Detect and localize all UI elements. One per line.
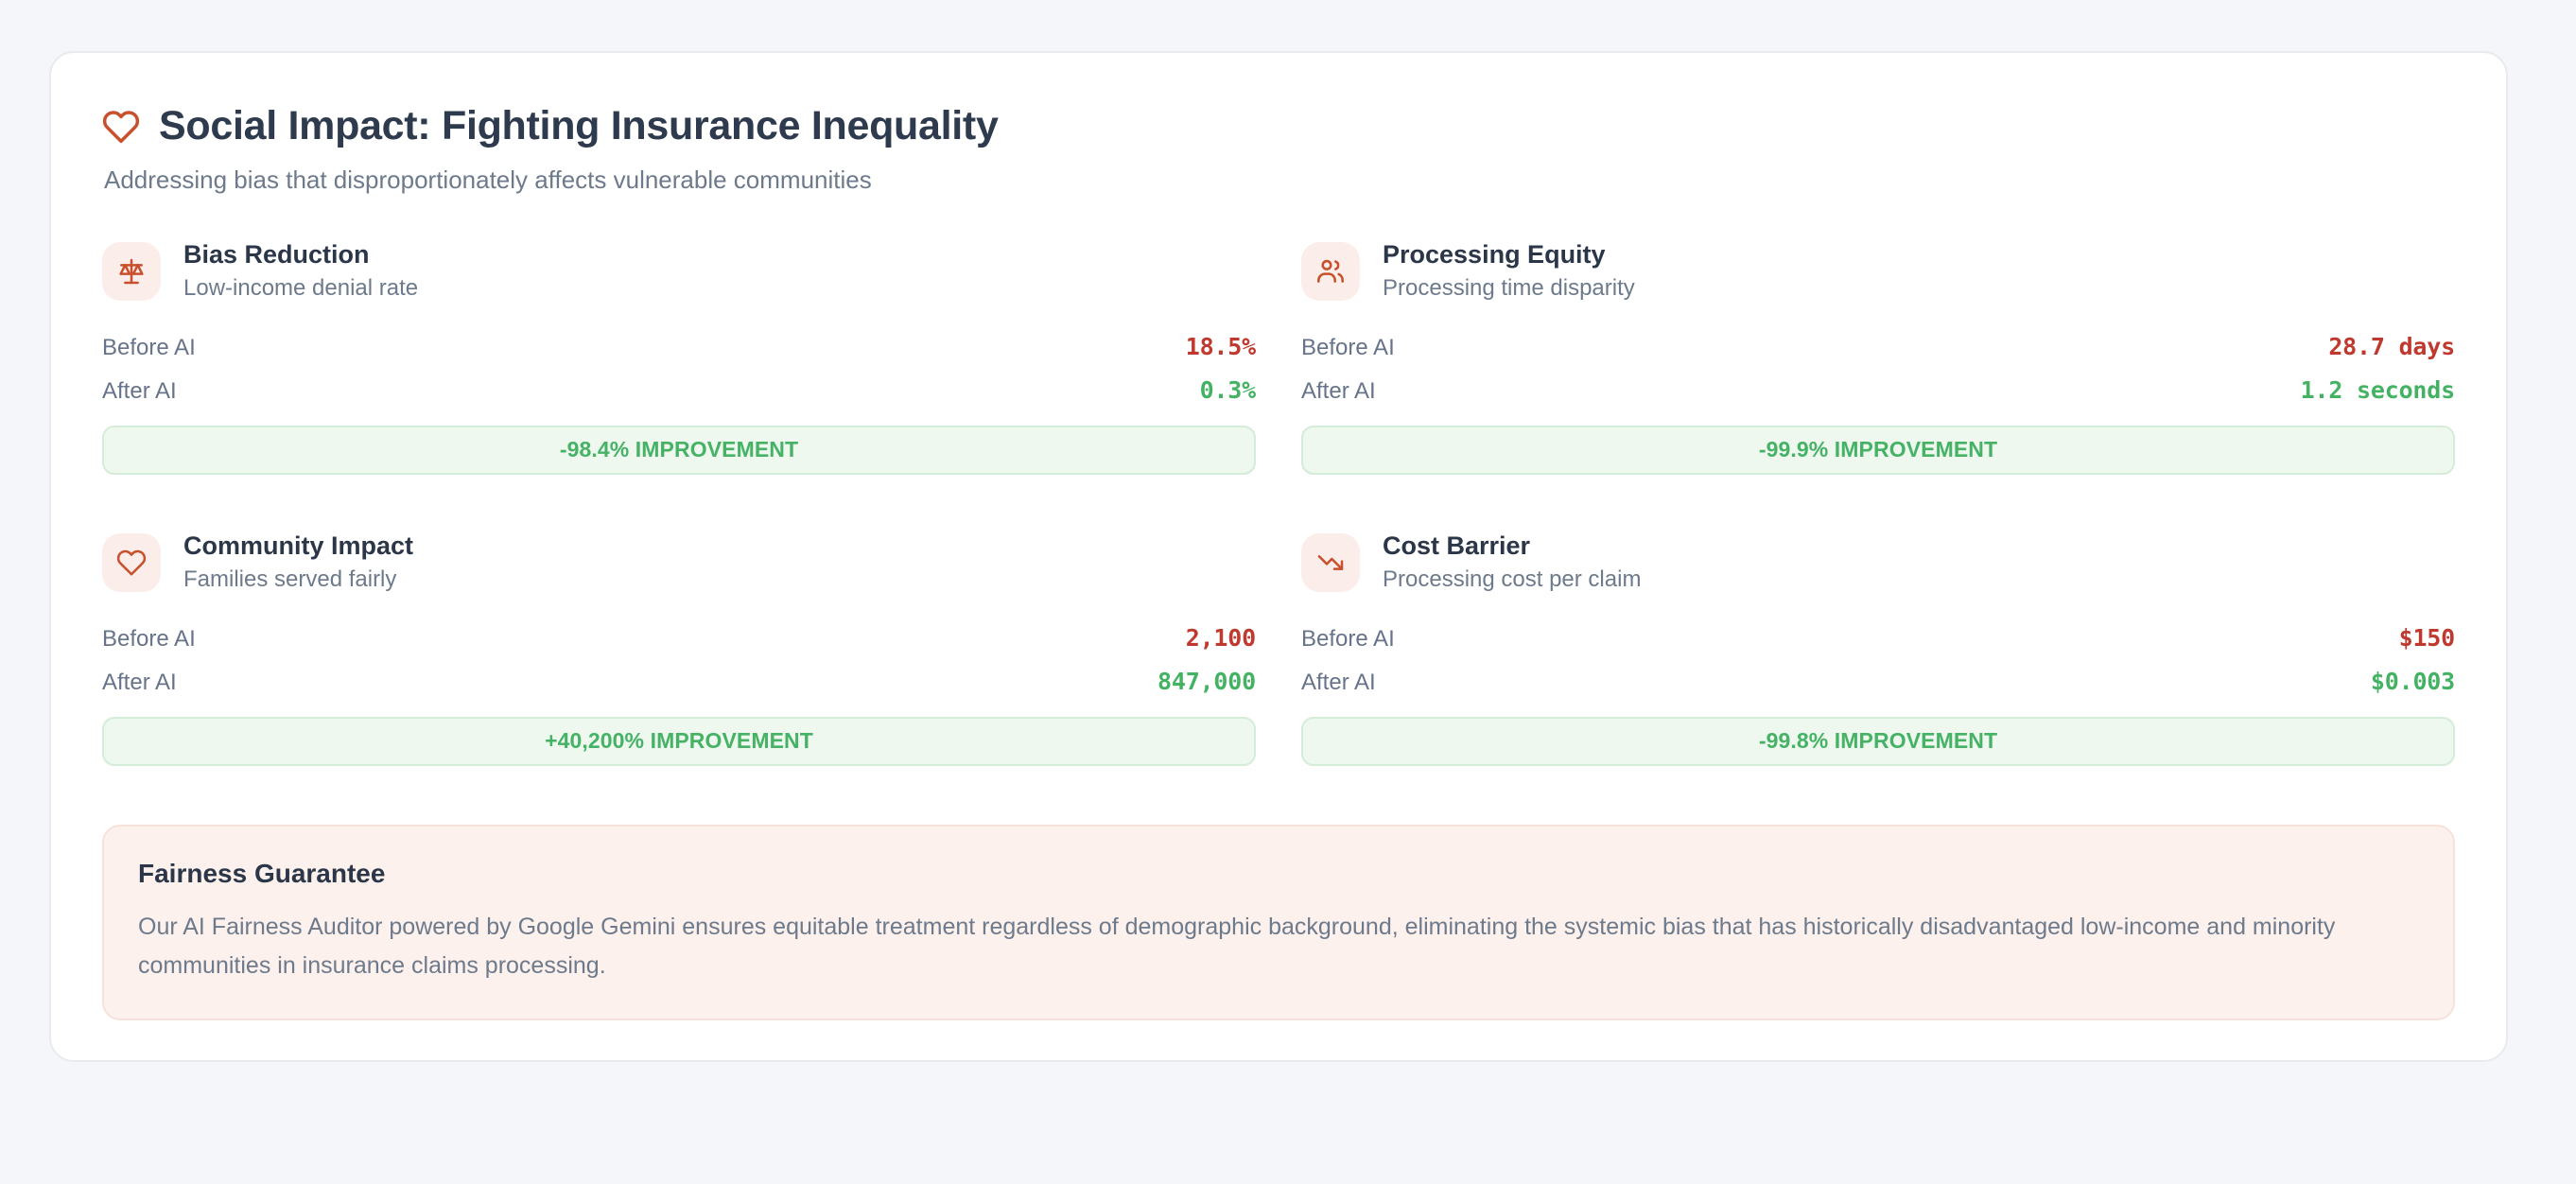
metric-title: Community Impact	[183, 531, 413, 561]
title-row: Social Impact: Fighting Insurance Inequa…	[102, 104, 2455, 148]
metric-title: Cost Barrier	[1383, 531, 1641, 561]
metric-titles: Processing Equity Processing time dispar…	[1383, 240, 1635, 303]
metric-row-before: Before AI 28.7 days	[1301, 327, 2455, 367]
metric-titles: Community Impact Families served fairly	[183, 531, 413, 594]
metric-title: Bias Reduction	[183, 240, 418, 270]
page-title: Social Impact: Fighting Insurance Inequa…	[159, 104, 999, 148]
metric-row-after: After AI $0.003	[1301, 662, 2455, 702]
heart-icon	[102, 533, 161, 592]
metric-card-bias-reduction: Bias Reduction Low-income denial rate Be…	[102, 240, 1256, 484]
metric-value-before: 28.7 days	[2328, 333, 2455, 360]
metric-value-after: 0.3%	[1200, 376, 1256, 404]
metric-label-after: After AI	[1301, 670, 1376, 696]
panel-header: Social Impact: Fighting Insurance Inequa…	[102, 104, 2455, 197]
heart-icon	[102, 108, 140, 146]
trending-down-icon	[1301, 533, 1360, 592]
improvement-badge: +40,200% IMPROVEMENT	[102, 717, 1256, 766]
metric-header: Cost Barrier Processing cost per claim	[1301, 531, 2455, 594]
metric-label-after: After AI	[102, 670, 177, 696]
metric-title: Processing Equity	[1383, 240, 1635, 270]
page-root: Social Impact: Fighting Insurance Inequa…	[0, 0, 2576, 1184]
metric-subtitle: Processing time disparity	[1383, 275, 1635, 303]
metric-label-after: After AI	[102, 378, 177, 405]
metric-row-after: After AI 847,000	[102, 662, 1256, 702]
metric-card-processing-equity: Processing Equity Processing time dispar…	[1301, 240, 2455, 484]
metric-label-before: Before AI	[1301, 626, 1395, 653]
metric-card-community-impact: Community Impact Families served fairly …	[102, 531, 1256, 775]
metric-label-before: Before AI	[102, 626, 196, 653]
improvement-badge: -99.8% IMPROVEMENT	[1301, 717, 2455, 766]
metric-header: Community Impact Families served fairly	[102, 531, 1256, 594]
metric-titles: Cost Barrier Processing cost per claim	[1383, 531, 1641, 594]
grid-row-spacer	[102, 484, 1256, 531]
metric-titles: Bias Reduction Low-income denial rate	[183, 240, 418, 303]
improvement-badge: -98.4% IMPROVEMENT	[102, 426, 1256, 475]
grid-row-spacer	[1301, 484, 2455, 531]
page-subtitle: Addressing bias that disproportionately …	[104, 165, 2455, 197]
fairness-guarantee-body: Our AI Fairness Auditor powered by Googl…	[138, 908, 2419, 985]
metric-header: Processing Equity Processing time dispar…	[1301, 240, 2455, 303]
metric-value-before: 2,100	[1186, 624, 1256, 652]
metric-subtitle: Low-income denial rate	[183, 275, 418, 303]
users-icon	[1301, 242, 1360, 301]
improvement-badge: -99.9% IMPROVEMENT	[1301, 426, 2455, 475]
metric-label-after: After AI	[1301, 378, 1376, 405]
metric-row-after: After AI 0.3%	[102, 371, 1256, 410]
fairness-guarantee-title: Fairness Guarantee	[138, 859, 2419, 889]
metric-value-after: $0.003	[2371, 668, 2455, 695]
metric-value-after: 1.2 seconds	[2301, 376, 2455, 404]
metric-row-before: Before AI 2,100	[102, 618, 1256, 658]
fairness-guarantee-box: Fairness Guarantee Our AI Fairness Audit…	[102, 825, 2455, 1021]
metric-row-before: Before AI 18.5%	[102, 327, 1256, 367]
metric-value-after: 847,000	[1157, 668, 1256, 695]
metric-label-before: Before AI	[102, 335, 196, 361]
metric-card-cost-barrier: Cost Barrier Processing cost per claim B…	[1301, 531, 2455, 775]
scales-icon	[102, 242, 161, 301]
metric-value-before: 18.5%	[1186, 333, 1256, 360]
social-impact-panel: Social Impact: Fighting Insurance Inequa…	[49, 51, 2508, 1062]
metric-row-after: After AI 1.2 seconds	[1301, 371, 2455, 410]
metric-header: Bias Reduction Low-income denial rate	[102, 240, 1256, 303]
metric-grid: Bias Reduction Low-income denial rate Be…	[102, 240, 2455, 775]
metric-row-before: Before AI $150	[1301, 618, 2455, 658]
metric-label-before: Before AI	[1301, 335, 1395, 361]
metric-value-before: $150	[2399, 624, 2455, 652]
metric-subtitle: Processing cost per claim	[1383, 566, 1641, 594]
metric-subtitle: Families served fairly	[183, 566, 413, 594]
